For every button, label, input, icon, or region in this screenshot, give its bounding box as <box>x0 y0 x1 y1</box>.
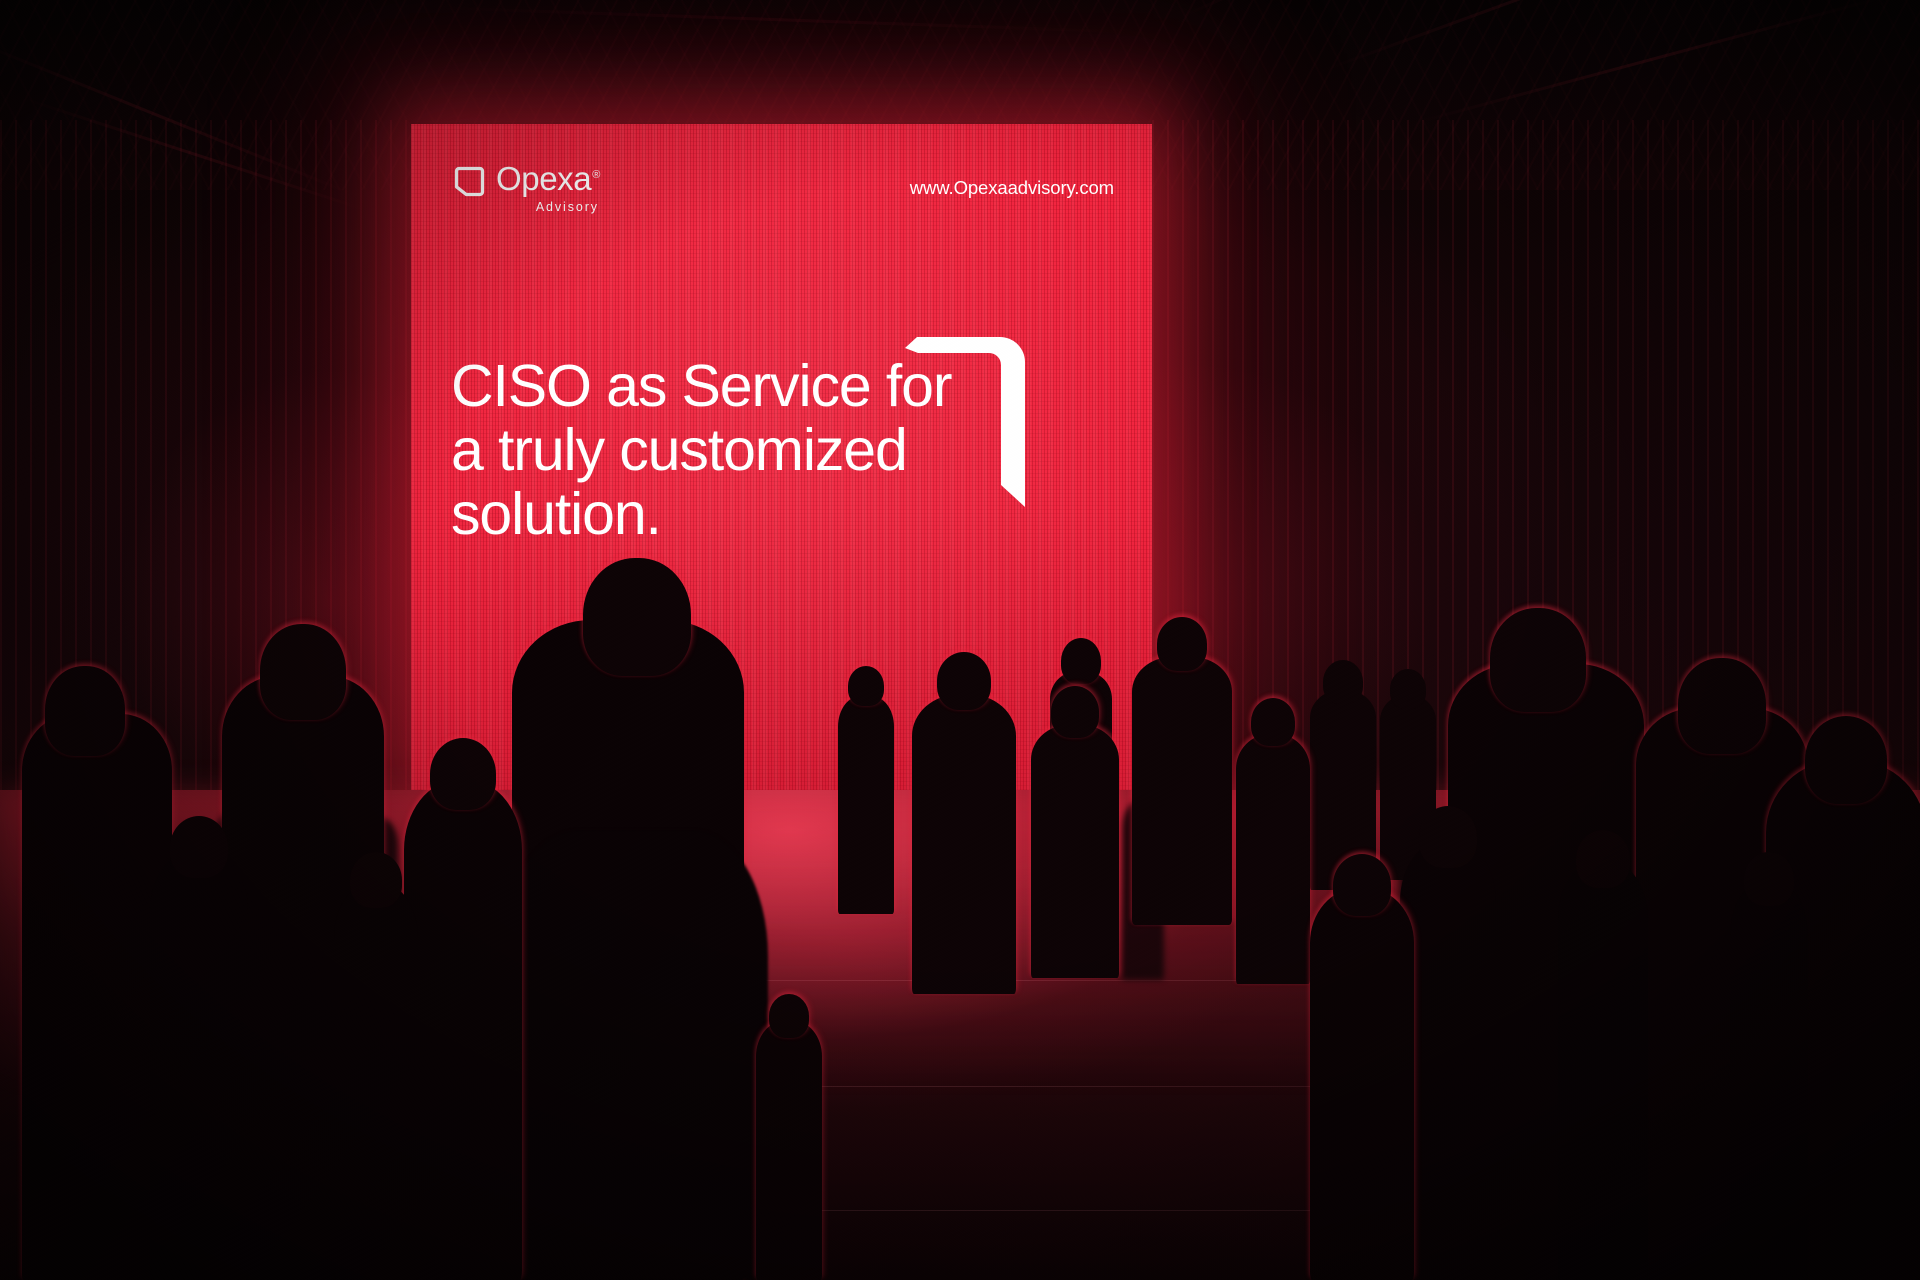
scene-root: Opexa® Advisory www.Opexaadvisory.com CI… <box>0 0 1920 1280</box>
headline-line-1: CISO as Service for <box>451 354 951 418</box>
logo-sub-wordmark: Advisory <box>536 201 600 214</box>
headline: CISO as Service for a truly customized s… <box>451 354 951 546</box>
wall-glow-left <box>0 300 430 860</box>
ceiling-beam <box>430 6 1130 33</box>
registered-trademark-symbol: ® <box>592 169 600 181</box>
opexa-notched-square-icon <box>454 166 485 197</box>
floor-seam <box>0 980 1920 981</box>
logo-wordmark-text: Opexa <box>496 160 591 197</box>
floor-reflection <box>0 790 1920 1090</box>
headline-line-2: a truly customized <box>451 418 951 482</box>
logo-wordmark: Opexa® <box>496 162 600 195</box>
opexa-corner-bracket-mark <box>905 317 1025 507</box>
website-url[interactable]: www.Opexaadvisory.com <box>910 177 1114 199</box>
led-video-wall[interactable]: Opexa® Advisory www.Opexaadvisory.com CI… <box>411 124 1152 790</box>
opexa-logo-lockup[interactable]: Opexa® Advisory <box>454 162 600 214</box>
ceiling-beam <box>1420 0 1884 123</box>
floor-seam <box>0 1210 1920 1211</box>
wall-glow-right <box>1120 300 1740 860</box>
floor-seam <box>0 1086 1920 1087</box>
ceiling-beam <box>1179 0 1573 19</box>
headline-line-3: solution. <box>451 482 951 546</box>
